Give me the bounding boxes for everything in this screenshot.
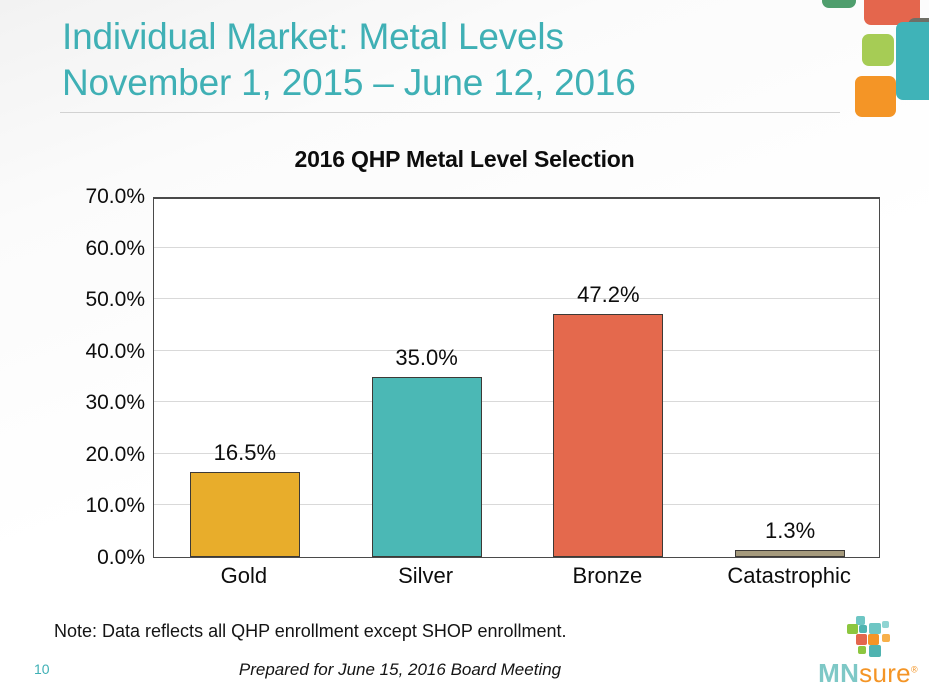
chart-note: Note: Data reflects all QHP enrollment e…: [54, 621, 567, 642]
chart-bar-bronze[interactable]: [553, 314, 663, 557]
prepared-for-text: Prepared for June 15, 2016 Board Meeting: [0, 660, 800, 680]
chart-bar-value-label: 47.2%: [577, 282, 639, 308]
decoration-orange-square: [855, 76, 896, 117]
chart-y-tick-label: 10.0%: [35, 494, 145, 518]
chart-y-tick-label: 40.0%: [35, 340, 145, 364]
chart-plot-area: 16.5%35.0%47.2%1.3%: [153, 197, 880, 558]
chart-x-tick-label: Catastrophic: [698, 563, 880, 589]
logo-orange-sq-2: [882, 634, 890, 642]
logo-teal-sq-4: [882, 621, 889, 628]
logo-orange-sq-1: [868, 634, 879, 645]
chart-y-tick-label: 70.0%: [35, 185, 145, 209]
chart-bar-group: 35.0%: [336, 199, 518, 557]
chart-x-axis: GoldSilverBronzeCatastrophic: [153, 563, 880, 597]
page-title: Individual Market: Metal Levels November…: [62, 14, 852, 106]
mnsure-logo-mn: MN: [818, 658, 859, 688]
chart-bar-catastrophic[interactable]: [735, 550, 845, 557]
mnsure-logo-sure: sure: [859, 658, 911, 688]
chart-bar-value-label: 1.3%: [765, 518, 815, 544]
logo-teal-sq-5: [869, 645, 881, 657]
slide-header: Individual Market: Metal Levels November…: [62, 14, 852, 106]
chart-title: 2016 QHP Metal Level Selection: [0, 146, 929, 173]
chart-bar-group: 16.5%: [154, 199, 336, 557]
logo-teal-sq-2: [859, 625, 867, 633]
chart-y-tick-label: 30.0%: [35, 391, 145, 415]
chart-x-tick-label: Bronze: [517, 563, 699, 589]
chart-bar-value-label: 35.0%: [395, 345, 457, 371]
logo-teal-sq-3: [869, 623, 881, 634]
decoration-green-square-top: [822, 0, 856, 8]
chart-bar-gold[interactable]: [190, 472, 300, 557]
mnsure-logo: MNsure®: [812, 616, 924, 686]
decoration-teal-square: [896, 22, 929, 100]
title-divider: [60, 112, 840, 113]
mnsure-logo-wordmark: MNsure®: [812, 658, 924, 689]
chart-bar-group: 47.2%: [518, 199, 700, 557]
chart-y-tick-label: 0.0%: [35, 546, 145, 570]
chart-y-tick-label: 20.0%: [35, 443, 145, 467]
chart-bar-value-label: 16.5%: [214, 440, 276, 466]
chart-bar-silver[interactable]: [372, 377, 482, 558]
mnsure-logo-trademark: ®: [911, 664, 918, 674]
logo-red-sq-1: [856, 634, 867, 645]
mnsure-logo-mark: [846, 616, 892, 660]
chart-y-tick-label: 50.0%: [35, 288, 145, 312]
chart-x-tick-label: Gold: [153, 563, 335, 589]
chart-bar-group: 1.3%: [699, 199, 881, 557]
logo-green-sq-2: [858, 646, 866, 654]
decoration-light-green-square: [862, 34, 894, 66]
chart-y-tick-label: 60.0%: [35, 237, 145, 261]
chart-bars: 16.5%35.0%47.2%1.3%: [154, 199, 879, 557]
chart-x-tick-label: Silver: [335, 563, 517, 589]
chart-y-axis: 0.0%10.0%20.0%30.0%40.0%50.0%60.0%70.0%: [25, 197, 145, 558]
logo-green-sq-1: [847, 624, 858, 634]
chart-container: 2016 QHP Metal Level Selection 0.0%10.0%…: [0, 140, 929, 610]
